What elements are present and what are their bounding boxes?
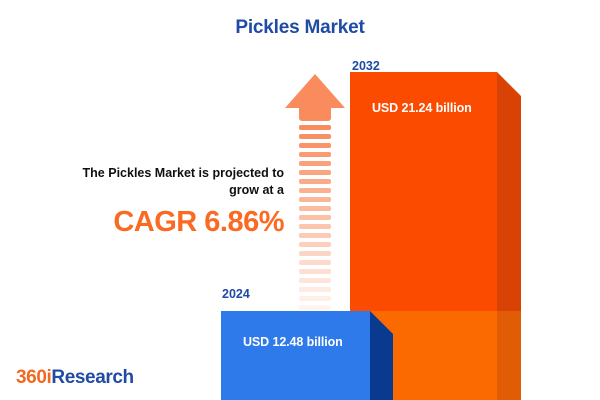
logo-secondary: Research	[51, 367, 133, 388]
year-label-2024: 2024	[222, 287, 250, 301]
arrow-stripe	[299, 242, 331, 247]
page-title: Pickles Market	[0, 17, 600, 39]
arrow-stripe	[299, 188, 331, 193]
arrow-stripe	[299, 260, 331, 265]
arrow-stripe	[299, 296, 331, 301]
arrow-stripe	[299, 287, 331, 292]
arrow-stripe	[299, 134, 331, 139]
arrow-neck-shape	[299, 107, 331, 121]
bar-2032-value-label: USD 21.24 billion	[372, 101, 472, 115]
arrow-stripe	[299, 233, 331, 238]
statement-line-2: grow at a	[26, 182, 284, 199]
statement-line-1: The Pickles Market is projected to	[26, 165, 284, 182]
growth-arrow-icon	[285, 74, 345, 294]
arrow-stripe	[299, 251, 331, 256]
arrow-stripe	[299, 269, 331, 274]
bar-2024-face	[221, 311, 370, 400]
arrow-stripe	[299, 125, 331, 130]
arrow-stripe	[299, 152, 331, 157]
bar-2024: USD 12.48 billion	[221, 311, 370, 400]
cagr-statement: The Pickles Market is projected to grow …	[26, 165, 284, 239]
logo-primary: 360i	[16, 367, 51, 388]
arrow-head-shape	[285, 74, 345, 108]
year-label-2032: 2032	[352, 59, 380, 73]
arrow-stripe	[299, 206, 331, 211]
arrow-stripe	[299, 197, 331, 202]
market-infographic: Pickles Market The Pickles Market is pro…	[0, 0, 600, 400]
arrow-stripe	[299, 179, 331, 184]
arrow-stripe	[299, 215, 331, 220]
arrow-stripe	[299, 278, 331, 283]
arrow-stripe	[299, 305, 331, 310]
arrow-stripe	[299, 161, 331, 166]
arrow-stripe	[299, 170, 331, 175]
brand-logo: 360iResearch	[16, 367, 134, 389]
arrow-stripe	[299, 143, 331, 148]
bar-2024-value-label: USD 12.48 billion	[243, 335, 343, 349]
arrow-stripes	[299, 125, 331, 341]
arrow-stripe	[299, 224, 331, 229]
cagr-value: CAGR 6.86%	[26, 205, 284, 239]
bar-2032-side-base	[497, 311, 521, 400]
